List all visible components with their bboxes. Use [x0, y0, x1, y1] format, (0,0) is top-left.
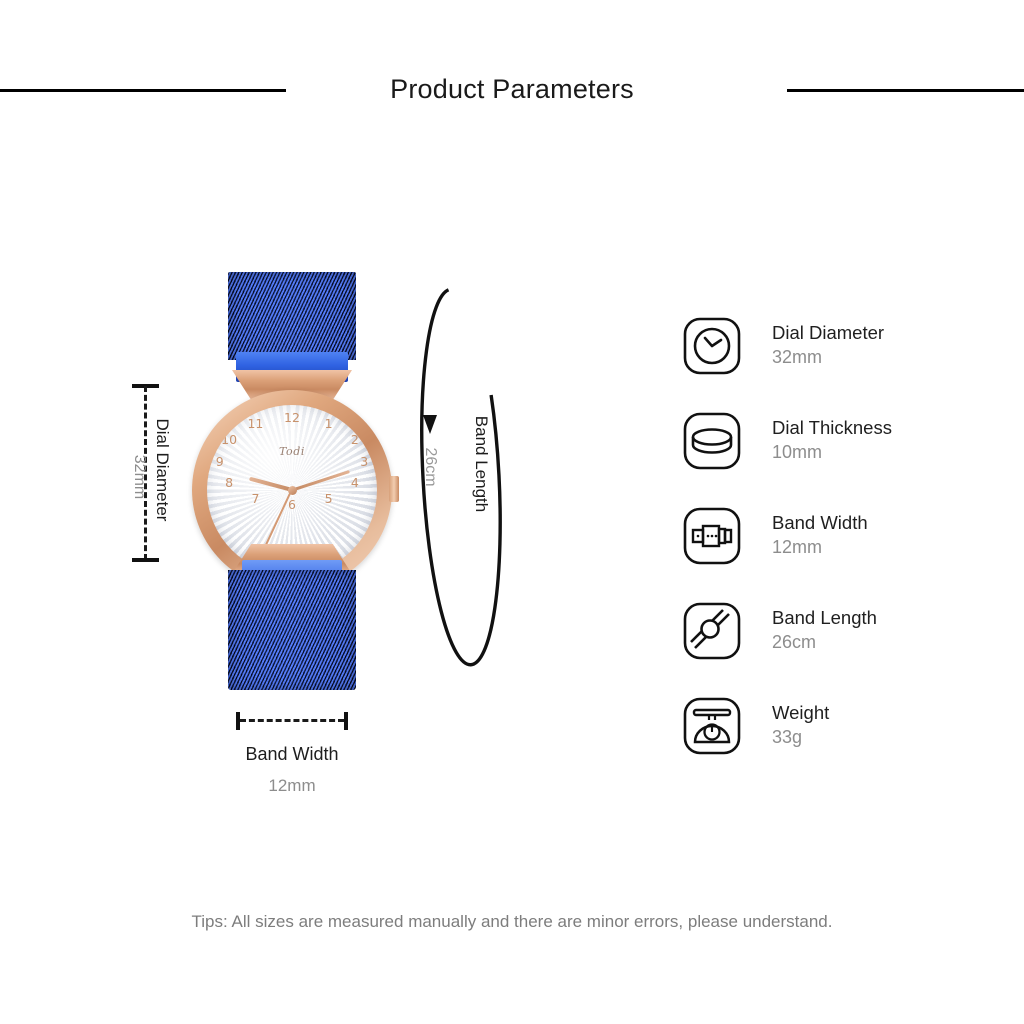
dial-numeral: 5 — [319, 491, 339, 506]
spec-row-band-length: Band Length 26cm — [678, 583, 1008, 678]
spec-label: Band Width — [772, 511, 868, 535]
footer-tip-text: Tips: All sizes are measured manually an… — [0, 912, 1024, 932]
dial-diameter-value: 32mm — [130, 397, 148, 557]
dial-numeral: 12 — [282, 410, 302, 425]
spec-label: Dial Thickness — [772, 416, 892, 440]
dial-numeral: 11 — [245, 416, 265, 431]
spec-text: Weight 33g — [772, 701, 829, 749]
dimension-end-cap-bottom — [132, 558, 159, 562]
spec-value: 26cm — [772, 631, 877, 655]
dial-numeral: 4 — [345, 475, 365, 490]
spec-value: 10mm — [772, 441, 892, 465]
spec-row-dial-diameter: Dial Diameter 32mm — [678, 298, 1008, 393]
band-width-dimension: Band Width 12mm — [196, 712, 388, 796]
band-length-icon — [678, 597, 746, 665]
spec-text: Band Length 26cm — [772, 606, 877, 654]
spec-text: Band Width 12mm — [772, 511, 868, 559]
spec-text: Dial Diameter 32mm — [772, 321, 884, 369]
strap-buckle-icon — [678, 502, 746, 570]
spec-row-band-width: Band Width 12mm — [678, 488, 1008, 583]
dial-numeral: 9 — [210, 454, 230, 469]
page-title: Product Parameters — [312, 62, 712, 116]
spec-label: Dial Diameter — [772, 321, 884, 345]
band-length-dimension: Band Length 26cm — [396, 282, 526, 672]
dimension-line-horizontal — [240, 719, 344, 722]
disc-thickness-icon — [678, 407, 746, 475]
dial-numeral: 10 — [219, 432, 239, 447]
spec-label: Band Length — [772, 606, 877, 630]
spec-value: 12mm — [772, 536, 868, 560]
kitchen-scale-icon — [678, 692, 746, 760]
dial-diameter-dimension: Dial Diameter 32mm — [118, 380, 174, 570]
dial-numeral: 2 — [345, 432, 365, 447]
spec-list: Dial Diameter 32mm Dial Thickness 10mm — [678, 298, 1008, 773]
watch-dial-icon — [678, 312, 746, 380]
dial-numeral: 3 — [354, 454, 374, 469]
spec-value: 33g — [772, 726, 829, 750]
hand-center-cap — [288, 486, 297, 495]
watch-band-lower — [228, 570, 356, 690]
band-length-loop-icon — [396, 282, 526, 672]
watch-band-upper — [228, 272, 356, 360]
band-width-value: 12mm — [196, 776, 388, 796]
spec-text: Dial Thickness 10mm — [772, 416, 892, 464]
band-length-label: Band Length — [471, 369, 491, 559]
band-length-value: 26cm — [421, 387, 439, 547]
watch-product-image: Todi 12 1 2 3 4 5 6 7 8 9 10 11 — [228, 272, 356, 690]
dial-numeral: 7 — [245, 491, 265, 506]
band-width-measure-bar — [236, 712, 348, 730]
header-rule-left — [0, 89, 286, 92]
dial-diameter-label: Dial Diameter — [152, 390, 172, 550]
dial-numeral: 1 — [319, 416, 339, 431]
header-rule-right — [787, 89, 1024, 92]
band-width-label: Band Width — [196, 744, 388, 765]
dimension-end-cap-right — [344, 712, 348, 730]
page-header: Product Parameters — [0, 62, 1024, 120]
spec-label: Weight — [772, 701, 829, 725]
spec-row-dial-thickness: Dial Thickness 10mm — [678, 393, 1008, 488]
dial-numeral: 8 — [219, 475, 239, 490]
spec-row-weight: Weight 33g — [678, 678, 1008, 773]
spec-value: 32mm — [772, 346, 884, 370]
